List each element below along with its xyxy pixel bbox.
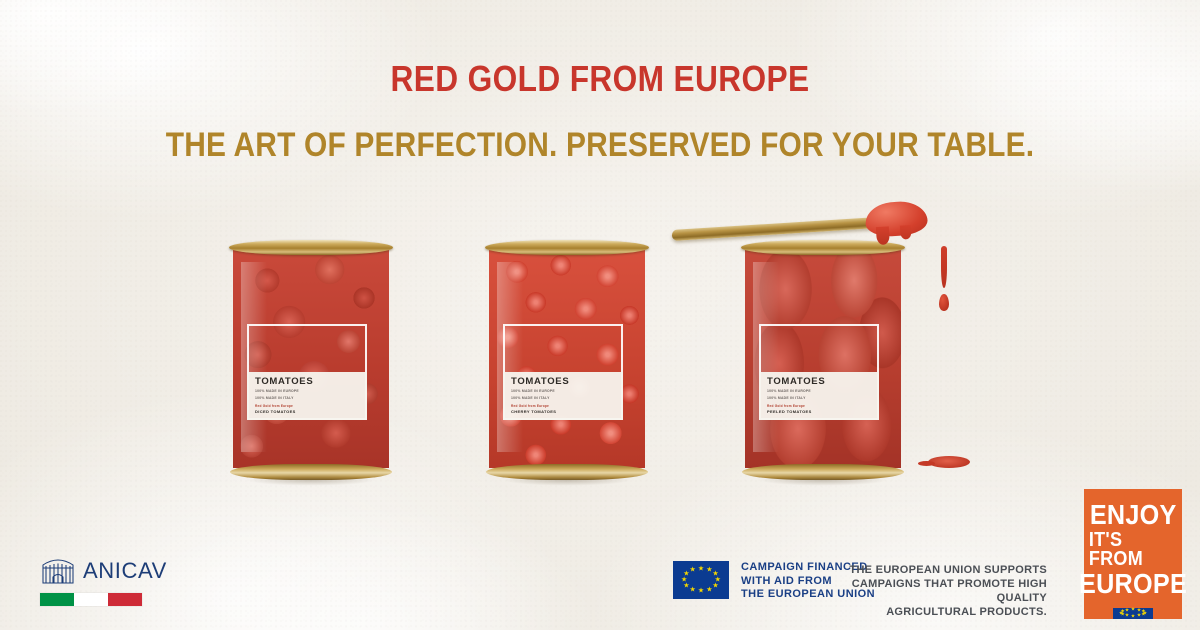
label-origin-1: 100% MADE IN EUROPE: [767, 389, 871, 394]
label-title: TOMATOES: [255, 376, 359, 387]
can-shadow: [479, 472, 655, 488]
label-text: TOMATOES 100% MADE IN EUROPE 100% MADE I…: [255, 376, 359, 414]
enjoy-line-3: EUROPE: [1079, 571, 1187, 597]
can-shadow: [735, 472, 911, 488]
anicav-logo[interactable]: ANICAV: [40, 556, 190, 606]
italian-flag-icon: [40, 593, 142, 606]
can-top-rim: [229, 240, 393, 255]
anicav-logo-row: ANICAV: [40, 556, 190, 586]
enjoy-line-2: IT'S FROM: [1089, 531, 1177, 569]
enjoy-line-1: ENJOY: [1090, 502, 1177, 528]
can-cherry: TOMATOES 100% MADE IN EUROPE 100% MADE I…: [489, 240, 645, 480]
label-origin-1: 100% MADE IN EUROPE: [511, 389, 615, 394]
can-label: TOMATOES 100% MADE IN EUROPE 100% MADE I…: [759, 324, 879, 420]
page-title: RED GOLD FROM EUROPE: [72, 58, 1128, 100]
eu-support-line-1: THE EUROPEAN UNION SUPPORTS: [835, 563, 1047, 577]
label-text: TOMATOES 100% MADE IN EUROPE 100% MADE I…: [511, 376, 615, 414]
enjoy-its-from-europe-badge[interactable]: ENJOY IT'S FROM EUROPE ★★★★★★★★★★★★: [1084, 489, 1182, 619]
can-peeled: TOMATOES 100% MADE IN EUROPE 100% MADE I…: [745, 240, 901, 480]
can-top-rim: [485, 240, 649, 255]
eu-support-line-2: CAMPAIGNS THAT PROMOTE HIGH QUALITY: [835, 577, 1047, 605]
label-origin-2: 100% MADE IN ITALY: [255, 396, 359, 401]
label-origin-2: 100% MADE IN ITALY: [511, 396, 615, 401]
page-subtitle: THE ART OF PERFECTION. PRESERVED FOR YOU…: [72, 126, 1128, 165]
can-label: TOMATOES 100% MADE IN EUROPE 100% MADE I…: [247, 324, 367, 420]
label-title: TOMATOES: [767, 376, 871, 387]
anicav-wordmark: ANICAV: [83, 558, 167, 584]
eu-support-disclaimer: THE EUROPEAN UNION SUPPORTS CAMPAIGNS TH…: [835, 563, 1047, 619]
label-origin-2: 100% MADE IN ITALY: [767, 396, 871, 401]
eu-stars: ★★★★★★★★★★★★: [1113, 608, 1153, 619]
can-label: TOMATOES 100% MADE IN EUROPE 100% MADE I…: [503, 324, 623, 420]
sauce-puddle: [928, 456, 970, 468]
eu-stars: ★★★★★★★★★★★★: [673, 561, 729, 599]
label-origin-1: 100% MADE IN EUROPE: [255, 389, 359, 394]
can-body: TOMATOES 100% MADE IN EUROPE 100% MADE I…: [489, 250, 645, 468]
eu-flag-icon-small: ★★★★★★★★★★★★: [1113, 608, 1153, 619]
banner-stage: RED GOLD FROM EUROPE THE ART OF PERFECTI…: [0, 0, 1200, 630]
label-variety: DICED TOMATOES: [255, 409, 359, 414]
can-body: TOMATOES 100% MADE IN EUROPE 100% MADE I…: [745, 250, 901, 468]
label-title: TOMATOES: [511, 376, 615, 387]
label-text: TOMATOES 100% MADE IN EUROPE 100% MADE I…: [767, 376, 871, 414]
can-shadow: [223, 472, 399, 488]
label-variety: CHERRY TOMATOES: [511, 409, 615, 414]
sauce-drip-stream: [941, 246, 947, 288]
sauce-drip-droplet: [939, 294, 949, 311]
can-diced: TOMATOES 100% MADE IN EUROPE 100% MADE I…: [233, 240, 389, 480]
eu-support-line-3: AGRICULTURAL PRODUCTS.: [835, 605, 1047, 619]
sauce-blob: [864, 200, 928, 238]
can-body: TOMATOES 100% MADE IN EUROPE 100% MADE I…: [233, 250, 389, 468]
eu-flag-icon: ★★★★★★★★★★★★: [673, 561, 729, 599]
anicav-building-icon: [40, 556, 76, 586]
label-variety: PEELED TOMATOES: [767, 409, 871, 414]
